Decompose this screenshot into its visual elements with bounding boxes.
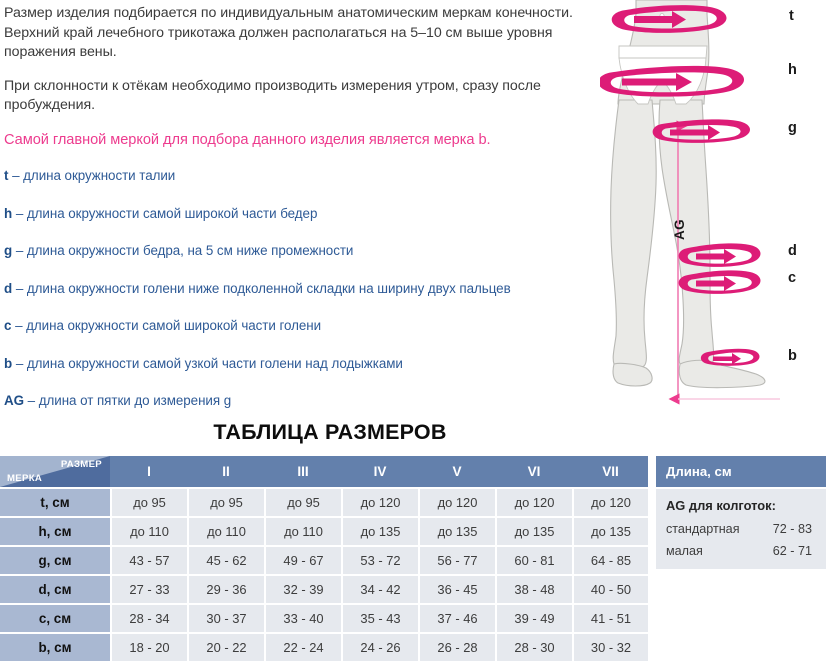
row-label-d: d, см bbox=[0, 574, 110, 603]
table-row: b, см 18 - 20 20 - 22 22 - 24 24 - 26 26… bbox=[0, 632, 648, 661]
cell-b-5: 26 - 28 bbox=[418, 632, 495, 661]
figure-label-h: h bbox=[788, 62, 797, 78]
cell-b-4: 24 - 26 bbox=[341, 632, 418, 661]
column-header-6: VI bbox=[495, 456, 572, 487]
cell-c-4: 35 - 43 bbox=[341, 603, 418, 632]
cell-c-3: 33 - 40 bbox=[264, 603, 341, 632]
cell-c-2: 30 - 37 bbox=[187, 603, 264, 632]
cell-d-4: 34 - 42 bbox=[341, 574, 418, 603]
column-header-2: II bbox=[187, 456, 264, 487]
legend-item-b: b – длина окружности самой узкой части г… bbox=[4, 356, 614, 372]
legend-dash-c: – bbox=[15, 318, 22, 333]
figure-label-c: c bbox=[788, 270, 796, 286]
column-header-3: III bbox=[264, 456, 341, 487]
cell-h-1: до 110 bbox=[110, 516, 187, 545]
cell-b-1: 18 - 20 bbox=[110, 632, 187, 661]
legend-dash-b: – bbox=[16, 356, 23, 371]
column-header-4: IV bbox=[341, 456, 418, 487]
corner-label-razmer: РАЗМЕР bbox=[61, 459, 102, 470]
row-label-g: g, см bbox=[0, 545, 110, 574]
cell-d-2: 29 - 36 bbox=[187, 574, 264, 603]
length-panel: Длина, см AG для колготок: стандартная 7… bbox=[656, 456, 826, 569]
table-row: d, см 27 - 33 29 - 36 32 - 39 34 - 42 36… bbox=[0, 574, 648, 603]
cell-c-1: 28 - 34 bbox=[110, 603, 187, 632]
length-value-small: 62 - 71 bbox=[773, 544, 812, 558]
legend-text-g: длина окружности бедра, на 5 см ниже про… bbox=[27, 243, 353, 258]
legend-text-ag: длина от пятки до измерения g bbox=[39, 393, 231, 408]
cell-b-7: 30 - 32 bbox=[572, 632, 648, 661]
cell-d-6: 38 - 48 bbox=[495, 574, 572, 603]
length-panel-body: AG для колготок: стандартная 72 - 83 мал… bbox=[656, 489, 826, 569]
cell-c-5: 37 - 46 bbox=[418, 603, 495, 632]
size-table-title: ТАБЛИЦА РАЗМЕРОВ bbox=[0, 420, 660, 445]
band-t bbox=[612, 5, 727, 33]
cell-g-1: 43 - 57 bbox=[110, 545, 187, 574]
cell-b-6: 28 - 30 bbox=[495, 632, 572, 661]
legend-text-t: длина окружности талии bbox=[23, 168, 175, 183]
column-header-1: I bbox=[110, 456, 187, 487]
table-header-row: РАЗМЕР МЕРКА I II III IV V VI VII bbox=[0, 456, 648, 487]
row-label-h: h, см bbox=[0, 516, 110, 545]
figure-label-d: d bbox=[788, 243, 797, 259]
legend-dash-ag: – bbox=[28, 393, 35, 408]
figure-label-b: b bbox=[788, 348, 797, 364]
length-panel-header: Длина, см bbox=[656, 456, 826, 487]
legend-dash-d: – bbox=[16, 281, 23, 296]
legend-text-h: длина окружности самой широкой части бед… bbox=[27, 206, 317, 221]
table-row: t, см до 95 до 95 до 95 до 120 до 120 до… bbox=[0, 487, 648, 516]
legend-key-c: c bbox=[4, 318, 11, 333]
cell-t-5: до 120 bbox=[418, 487, 495, 516]
cell-t-2: до 95 bbox=[187, 487, 264, 516]
cell-h-2: до 110 bbox=[187, 516, 264, 545]
cell-h-6: до 135 bbox=[495, 516, 572, 545]
legend-dash-t: – bbox=[12, 168, 19, 183]
cell-t-4: до 120 bbox=[341, 487, 418, 516]
legend-text-b: длина окружности самой узкой части голен… bbox=[27, 356, 403, 371]
measurement-legend-list: t – длина окружности талии h – длина окр… bbox=[4, 168, 614, 431]
cell-d-3: 32 - 39 bbox=[264, 574, 341, 603]
cell-c-6: 39 - 49 bbox=[495, 603, 572, 632]
cell-g-7: 64 - 85 bbox=[572, 545, 648, 574]
row-label-t: t, см bbox=[0, 487, 110, 516]
column-header-7: VII bbox=[572, 456, 648, 487]
cell-c-7: 41 - 51 bbox=[572, 603, 648, 632]
legend-key-t: t bbox=[4, 168, 8, 183]
table-row: c, см 28 - 34 30 - 37 33 - 40 35 - 43 37… bbox=[0, 603, 648, 632]
length-panel-subtitle: AG для колготок: bbox=[656, 495, 826, 518]
intro-text-column: Размер изделия подбирается по индивидуал… bbox=[4, 4, 604, 150]
legend-item-h: h – длина окружности самой широкой части… bbox=[4, 206, 614, 222]
row-label-c: c, см bbox=[0, 603, 110, 632]
length-name-small: малая bbox=[666, 544, 703, 558]
cell-t-7: до 120 bbox=[572, 487, 648, 516]
cell-b-2: 20 - 22 bbox=[187, 632, 264, 661]
cell-g-4: 53 - 72 bbox=[341, 545, 418, 574]
intro-paragraph-1: Размер изделия подбирается по индивидуал… bbox=[4, 4, 604, 63]
intro-paragraph-2: При склонности к отёкам необходимо произ… bbox=[4, 77, 604, 116]
length-name-standard: стандартная bbox=[666, 522, 740, 536]
table-row: g, см 43 - 57 45 - 62 49 - 67 53 - 72 56… bbox=[0, 545, 648, 574]
legend-item-ag: AG – длина от пятки до измерения g bbox=[4, 393, 614, 409]
figure-label-t: t bbox=[789, 8, 794, 24]
body-silhouette bbox=[611, 0, 765, 388]
cell-h-7: до 135 bbox=[572, 516, 648, 545]
length-row-small: малая 62 - 71 bbox=[656, 540, 826, 562]
legend-item-d: d – длина окружности голени ниже подколе… bbox=[4, 281, 614, 297]
cell-d-5: 36 - 45 bbox=[418, 574, 495, 603]
legend-item-g: g – длина окружности бедра, на 5 см ниже… bbox=[4, 243, 614, 259]
cell-d-1: 27 - 33 bbox=[110, 574, 187, 603]
legend-item-t: t – длина окружности талии bbox=[4, 168, 614, 184]
legend-key-d: d bbox=[4, 281, 12, 296]
cell-h-5: до 135 bbox=[418, 516, 495, 545]
info-section: Размер изделия подбирается по индивидуал… bbox=[0, 0, 826, 412]
legend-key-b: b bbox=[4, 356, 12, 371]
legend-key-ag: AG bbox=[4, 393, 24, 408]
cell-b-3: 22 - 24 bbox=[264, 632, 341, 661]
length-row-standard: стандартная 72 - 83 bbox=[656, 518, 826, 540]
size-table: РАЗМЕР МЕРКА I II III IV V VI VII t, см … bbox=[0, 456, 648, 661]
figure-label-g: g bbox=[788, 120, 797, 136]
legend-text-d: длина окружности голени ниже подколенной… bbox=[27, 281, 511, 296]
legend-item-c: c – длина окружности самой широкой части… bbox=[4, 318, 614, 334]
cell-g-3: 49 - 67 bbox=[264, 545, 341, 574]
figure-label-ag: AG bbox=[672, 219, 687, 240]
cell-t-6: до 120 bbox=[495, 487, 572, 516]
legend-key-h: h bbox=[4, 206, 12, 221]
cell-g-6: 60 - 81 bbox=[495, 545, 572, 574]
cell-g-2: 45 - 62 bbox=[187, 545, 264, 574]
row-label-b: b, см bbox=[0, 632, 110, 661]
legend-dash-h: – bbox=[16, 206, 23, 221]
cell-h-3: до 110 bbox=[264, 516, 341, 545]
cell-h-4: до 135 bbox=[341, 516, 418, 545]
legend-dash-g: – bbox=[16, 243, 23, 258]
cell-t-3: до 95 bbox=[264, 487, 341, 516]
table-row: h, см до 110 до 110 до 110 до 135 до 135… bbox=[0, 516, 648, 545]
cell-t-1: до 95 bbox=[110, 487, 187, 516]
table-corner-cell: РАЗМЕР МЕРКА bbox=[0, 456, 110, 487]
column-header-5: V bbox=[418, 456, 495, 487]
cell-g-5: 56 - 77 bbox=[418, 545, 495, 574]
highlight-note: Самой главной меркой для подбора данного… bbox=[4, 130, 604, 150]
cell-d-7: 40 - 50 bbox=[572, 574, 648, 603]
legend-text-c: длина окружности самой широкой части гол… bbox=[26, 318, 321, 333]
corner-label-merka: МЕРКА bbox=[7, 473, 42, 484]
legend-key-g: g bbox=[4, 243, 12, 258]
length-value-standard: 72 - 83 bbox=[773, 522, 812, 536]
